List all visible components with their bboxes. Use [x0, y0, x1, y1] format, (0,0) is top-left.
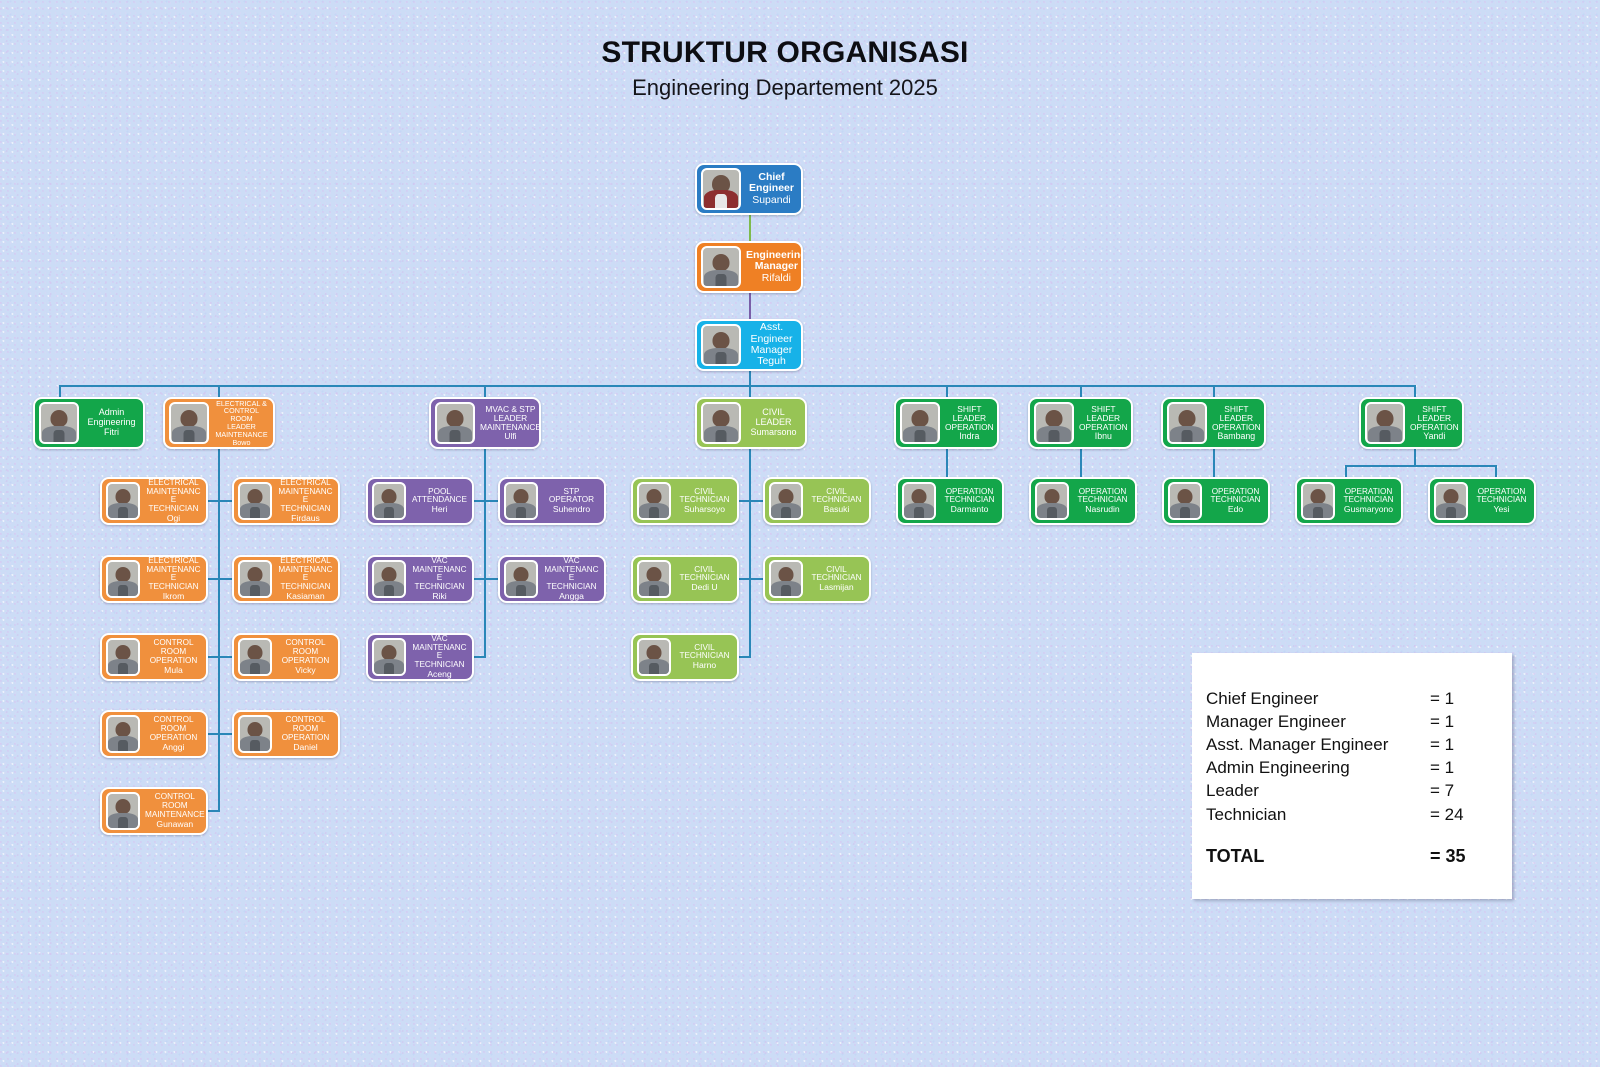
node-staff-civil-suharsoyo[interactable]: CIVIL TECHNICIAN Suharsoyo [631, 477, 739, 525]
node-person-name: Anggi [145, 743, 202, 752]
avatar-photo [372, 638, 406, 676]
node-staff-civil-dedi-u[interactable]: CIVIL TECHNICIAN Dedi U [631, 555, 739, 603]
node-staff-control-room-daniel[interactable]: CONTROL ROOM OPERATION Daniel [232, 710, 340, 758]
node-role-line3: E TECHNICIAN [145, 496, 202, 514]
avatar-photo [39, 402, 79, 444]
node-text: SHIFT LEADER OPERATION Yandi [1409, 403, 1463, 444]
node-role-line3: E TECHNICIAN [411, 652, 468, 670]
summary-legend-box: Chief Engineer = 1 Manager Engineer = 1 … [1192, 653, 1512, 899]
legend-label: Technician [1206, 803, 1286, 826]
node-person-name: Harno [676, 661, 733, 670]
avatar-photo [701, 168, 741, 210]
avatar-photo [701, 246, 741, 288]
node-role-line1: CIVIL LEADER [746, 408, 801, 427]
avatar-photo [504, 560, 538, 598]
connector-main-bus [59, 385, 1415, 387]
node-text: SHIFT LEADER OPERATION Bambang [1211, 403, 1265, 444]
node-text: CIVIL TECHNICIAN Harno [675, 642, 737, 673]
node-person-name: Angga [543, 592, 600, 601]
node-text: SHIFT LEADER OPERATION Ibnu [1078, 403, 1132, 444]
avatar-photo [372, 560, 406, 598]
node-leader-shift-bambang[interactable]: SHIFT LEADER OPERATION Bambang [1161, 397, 1266, 449]
node-person-name: Gunawan [145, 820, 205, 829]
avatar-photo [701, 402, 741, 444]
node-person-name: Teguh [746, 356, 797, 367]
node-text: OPERATION TECHNICIAN Darmanto [940, 486, 1002, 517]
avatar-photo [106, 715, 140, 753]
node-staff-vac-angga[interactable]: VAC MAINTENANC E TECHNICIAN Angga [498, 555, 606, 603]
node-text: ELECTRICAL MAINTENANC E TECHNICIAN Ogi [144, 477, 206, 525]
avatar-photo [637, 482, 671, 520]
node-text: VAC MAINTENANC E TECHNICIAN Aceng [410, 633, 472, 681]
node-leader-shift-ibnu[interactable]: SHIFT LEADER OPERATION Ibnu [1028, 397, 1133, 449]
node-staff-vac-riki[interactable]: VAC MAINTENANC E TECHNICIAN Riki [366, 555, 474, 603]
node-person-name: Suhendro [543, 505, 600, 514]
avatar-photo [238, 638, 272, 676]
node-staff-stp-operator-suhendro[interactable]: STP OPERATOR Suhendro [498, 477, 606, 525]
avatar-photo [1301, 482, 1335, 520]
node-person-name: Ulfi [480, 432, 541, 441]
node-role-line3: E TECHNICIAN [145, 574, 202, 592]
node-staff-electrical-ogi[interactable]: ELECTRICAL MAINTENANC E TECHNICIAN Ogi [100, 477, 208, 525]
legend-label: Asst. Manager Engineer [1206, 733, 1388, 756]
legend-value: = 1 [1430, 710, 1490, 733]
avatar-photo [106, 482, 140, 520]
node-staff-operation-gusmaryono[interactable]: OPERATION TECHNICIAN Gusmaryono [1295, 477, 1403, 525]
node-staff-operation-nasrudin[interactable]: OPERATION TECHNICIAN Nasrudin [1029, 477, 1137, 525]
node-chief-engineer[interactable]: Chief Engineer Supandi [695, 163, 803, 215]
node-leader-mvac-stp[interactable]: MVAC & STP LEADER MAINTENANCE Ulfi [429, 397, 541, 449]
legend-value: = 1 [1430, 756, 1490, 779]
node-role-line1: SHIFT LEADER [1410, 405, 1459, 423]
node-person-name: Ibnu [1079, 432, 1128, 442]
legend-label: Chief Engineer [1206, 687, 1318, 710]
avatar-photo [1365, 402, 1405, 444]
legend-total-row: TOTAL = 35 [1206, 846, 1490, 867]
avatar-photo [106, 792, 140, 830]
node-role-line2: Engineer [746, 183, 797, 194]
node-staff-electrical-ikrom[interactable]: ELECTRICAL MAINTENANC E TECHNICIAN Ikrom [100, 555, 208, 603]
node-text: POOL ATTENDANCE Heri [410, 486, 472, 517]
node-person-name: Yandi [1410, 432, 1459, 442]
connector-shift-bambang-child [1213, 447, 1215, 479]
node-person-name: Aceng [411, 670, 468, 679]
node-text: STP OPERATOR Suhendro [542, 486, 604, 517]
node-role-line3: E TECHNICIAN [411, 574, 468, 592]
node-person-name: Darmanto [941, 505, 998, 514]
legend-row: Leader = 7 [1206, 779, 1490, 802]
legend-total-label: TOTAL [1206, 846, 1264, 867]
node-person-name: Bowo [214, 439, 269, 447]
node-text: CONTROL ROOM OPERATION Vicky [276, 637, 338, 677]
node-person-name: Mula [145, 666, 202, 675]
avatar-photo [106, 638, 140, 676]
connector-spine-civil [749, 447, 751, 656]
node-staff-operation-darmanto[interactable]: OPERATION TECHNICIAN Darmanto [896, 477, 1004, 525]
node-text: Asst. Engineer Manager Teguh [745, 320, 801, 369]
connector-stub-mvac-3 [474, 656, 486, 658]
node-staff-civil-basuki[interactable]: CIVIL TECHNICIAN Basuki [763, 477, 871, 525]
connector-manager-asst [749, 293, 751, 321]
node-staff-operation-edo[interactable]: OPERATION TECHNICIAN Edo [1162, 477, 1270, 525]
avatar-photo [701, 324, 741, 366]
avatar-photo [902, 482, 936, 520]
legend-row: Asst. Manager Engineer = 1 [1206, 733, 1490, 756]
node-engineering-manager[interactable]: Engineering Manager Rifaldi [695, 241, 803, 293]
node-text: CONTROL ROOM OPERATION Anggi [144, 714, 206, 754]
node-role-line3: E TECHNICIAN [277, 574, 334, 592]
connector-chief-manager [749, 214, 751, 242]
page-subtitle: Engineering Departement 2025 [0, 75, 1570, 101]
node-person-name: Kasiaman [277, 592, 334, 601]
node-text: OPERATION TECHNICIAN Edo [1206, 486, 1268, 517]
node-text: Engineering Manager Rifaldi [745, 248, 803, 286]
legend-label: Manager Engineer [1206, 710, 1346, 733]
node-staff-control-room-gunawan[interactable]: CONTROL ROOM MAINTENANCE Gunawan [100, 787, 208, 835]
node-person-name: Fitri [84, 428, 139, 438]
node-role-line2: Manager [746, 261, 803, 272]
node-person-name: Sumarsono [746, 428, 801, 438]
node-person-name: Dedi U [676, 583, 733, 592]
node-text: ELECTRICAL MAINTENANC E TECHNICIAN Firda… [276, 477, 338, 525]
node-person-name: Riki [411, 592, 468, 601]
legend-row: Admin Engineering = 1 [1206, 756, 1490, 779]
node-text: MVAC & STP LEADER MAINTENANCE Ulfi [479, 403, 541, 443]
node-staff-control-room-anggi[interactable]: CONTROL ROOM OPERATION Anggi [100, 710, 208, 758]
node-text: ELECTRICAL MAINTENANC E TECHNICIAN Kasia… [276, 555, 338, 603]
node-role-line1: SHIFT LEADER [1212, 405, 1261, 423]
node-person-name: Daniel [277, 743, 334, 752]
node-text: CIVIL TECHNICIAN Lasmijan [807, 564, 869, 595]
node-text: OPERATION TECHNICIAN Gusmaryono [1339, 486, 1401, 517]
node-staff-vac-aceng[interactable]: VAC MAINTENANC E TECHNICIAN Aceng [366, 633, 474, 681]
connector-shift-yandi-bus [1345, 465, 1497, 467]
node-role-line3: E TECHNICIAN [543, 574, 600, 592]
node-leader-admin-engineering[interactable]: Admin Engineering Fitri [33, 397, 145, 449]
node-text: CIVIL LEADER Sumarsono [745, 406, 805, 439]
avatar-photo [769, 560, 803, 598]
node-person-name: Vicky [277, 666, 334, 675]
node-staff-control-room-vicky[interactable]: CONTROL ROOM OPERATION Vicky [232, 633, 340, 681]
node-text: VAC MAINTENANC E TECHNICIAN Riki [410, 555, 472, 603]
legend-row: Chief Engineer = 1 [1206, 687, 1490, 710]
node-person-name: Nasrudin [1074, 505, 1131, 514]
node-text: OPERATION TECHNICIAN Yesi [1472, 486, 1534, 517]
avatar-photo [769, 482, 803, 520]
node-text: ELECTRICAL MAINTENANC E TECHNICIAN Ikrom [144, 555, 206, 603]
node-role-line3: E TECHNICIAN [277, 496, 334, 514]
connector-shift-ibnu-child [1080, 447, 1082, 479]
node-role-line1: Asst. Engineer [746, 322, 797, 345]
node-person-name: Bambang [1212, 432, 1261, 442]
connector-shift-yandi-drop [1414, 447, 1416, 465]
avatar-photo [1034, 402, 1074, 444]
node-role-line1: SHIFT LEADER [1079, 405, 1128, 423]
node-person-name: Edo [1207, 505, 1264, 514]
node-person-name: Supandi [746, 195, 797, 206]
avatar-photo [900, 402, 940, 444]
avatar-photo [372, 482, 406, 520]
connector-spine-mvac [484, 447, 486, 656]
node-text: CIVIL TECHNICIAN Basuki [807, 486, 869, 517]
node-person-name: Suharsoyo [676, 505, 733, 514]
node-staff-control-room-mula[interactable]: CONTROL ROOM OPERATION Mula [100, 633, 208, 681]
avatar-photo [238, 482, 272, 520]
node-person-name: Firdaus [277, 514, 334, 523]
node-role-line2: CONTROL ROOM [214, 407, 269, 423]
node-leader-electrical-control-room[interactable]: ELECTRICAL & CONTROL ROOM LEADER MAINTEN… [163, 397, 275, 449]
node-person-name: Indra [945, 432, 994, 442]
node-text: VAC MAINTENANC E TECHNICIAN Angga [542, 555, 604, 603]
node-asst-engineer-manager[interactable]: Asst. Engineer Manager Teguh [695, 319, 803, 371]
node-text: ELECTRICAL & CONTROL ROOM LEADER MAINTEN… [213, 398, 273, 449]
legend-label: Leader [1206, 779, 1259, 802]
legend-value: = 1 [1430, 733, 1490, 756]
node-text: CONTROL ROOM OPERATION Daniel [276, 714, 338, 754]
legend-value: = 24 [1430, 803, 1490, 826]
node-person-name: Ikrom [145, 592, 202, 601]
page-title: STRUKTUR ORGANISASI [0, 36, 1570, 70]
avatar-photo [1434, 482, 1468, 520]
avatar-photo [238, 560, 272, 598]
legend-value: = 1 [1430, 687, 1490, 710]
node-staff-civil-lasmijan[interactable]: CIVIL TECHNICIAN Lasmijan [763, 555, 871, 603]
legend-row: Technician = 24 [1206, 803, 1490, 826]
connector-asst-bus [749, 370, 751, 386]
avatar-photo [106, 560, 140, 598]
node-text: CONTROL ROOM OPERATION Mula [144, 637, 206, 677]
avatar-photo [169, 402, 209, 444]
node-role-line1: SHIFT LEADER [945, 405, 994, 423]
legend-row: Manager Engineer = 1 [1206, 710, 1490, 733]
node-text: CIVIL TECHNICIAN Suharsoyo [675, 486, 737, 517]
avatar-photo [637, 560, 671, 598]
connector-stub-electrical-5 [208, 810, 220, 812]
avatar-photo [1035, 482, 1069, 520]
avatar-photo [504, 482, 538, 520]
avatar-photo [238, 715, 272, 753]
node-text: SHIFT LEADER OPERATION Indra [944, 403, 998, 444]
connector-shift-indra-child [946, 447, 948, 479]
node-text: Admin Engineering Fitri [83, 406, 143, 439]
node-staff-civil-harno[interactable]: CIVIL TECHNICIAN Harno [631, 633, 739, 681]
node-staff-electrical-kasiaman[interactable]: ELECTRICAL MAINTENANC E TECHNICIAN Kasia… [232, 555, 340, 603]
node-person-name: Gusmaryono [1340, 505, 1397, 514]
avatar-photo [637, 638, 671, 676]
avatar-photo [435, 402, 475, 444]
node-person-name: Ogi [145, 514, 202, 523]
node-text: Chief Engineer Supandi [745, 170, 801, 208]
legend-label: Admin Engineering [1206, 756, 1350, 779]
avatar-photo [1167, 402, 1207, 444]
node-text: OPERATION TECHNICIAN Nasrudin [1073, 486, 1135, 517]
node-staff-electrical-firdaus[interactable]: ELECTRICAL MAINTENANC E TECHNICIAN Firda… [232, 477, 340, 525]
node-staff-pool-attendance-heri[interactable]: POOL ATTENDANCE Heri [366, 477, 474, 525]
node-person-name: Lasmijan [808, 583, 865, 592]
node-staff-operation-yesi[interactable]: OPERATION TECHNICIAN Yesi [1428, 477, 1536, 525]
title-block: STRUKTUR ORGANISASI Engineering Departem… [0, 36, 1570, 101]
avatar-photo [1168, 482, 1202, 520]
node-leader-shift-indra[interactable]: SHIFT LEADER OPERATION Indra [894, 397, 999, 449]
node-person-name: Yesi [1473, 505, 1530, 514]
node-leader-civil[interactable]: CIVIL LEADER Sumarsono [695, 397, 807, 449]
node-text: CONTROL ROOM MAINTENANCE Gunawan [144, 791, 208, 831]
node-person-name: Basuki [808, 505, 865, 514]
legend-total-value: = 35 [1430, 846, 1490, 867]
node-text: CIVIL TECHNICIAN Dedi U [675, 564, 737, 595]
node-leader-shift-yandi[interactable]: SHIFT LEADER OPERATION Yandi [1359, 397, 1464, 449]
connector-stub-civil-3 [739, 656, 751, 658]
node-person-name: Heri [411, 505, 468, 514]
node-person-name: Rifaldi [746, 273, 803, 284]
legend-value: = 7 [1430, 779, 1490, 802]
